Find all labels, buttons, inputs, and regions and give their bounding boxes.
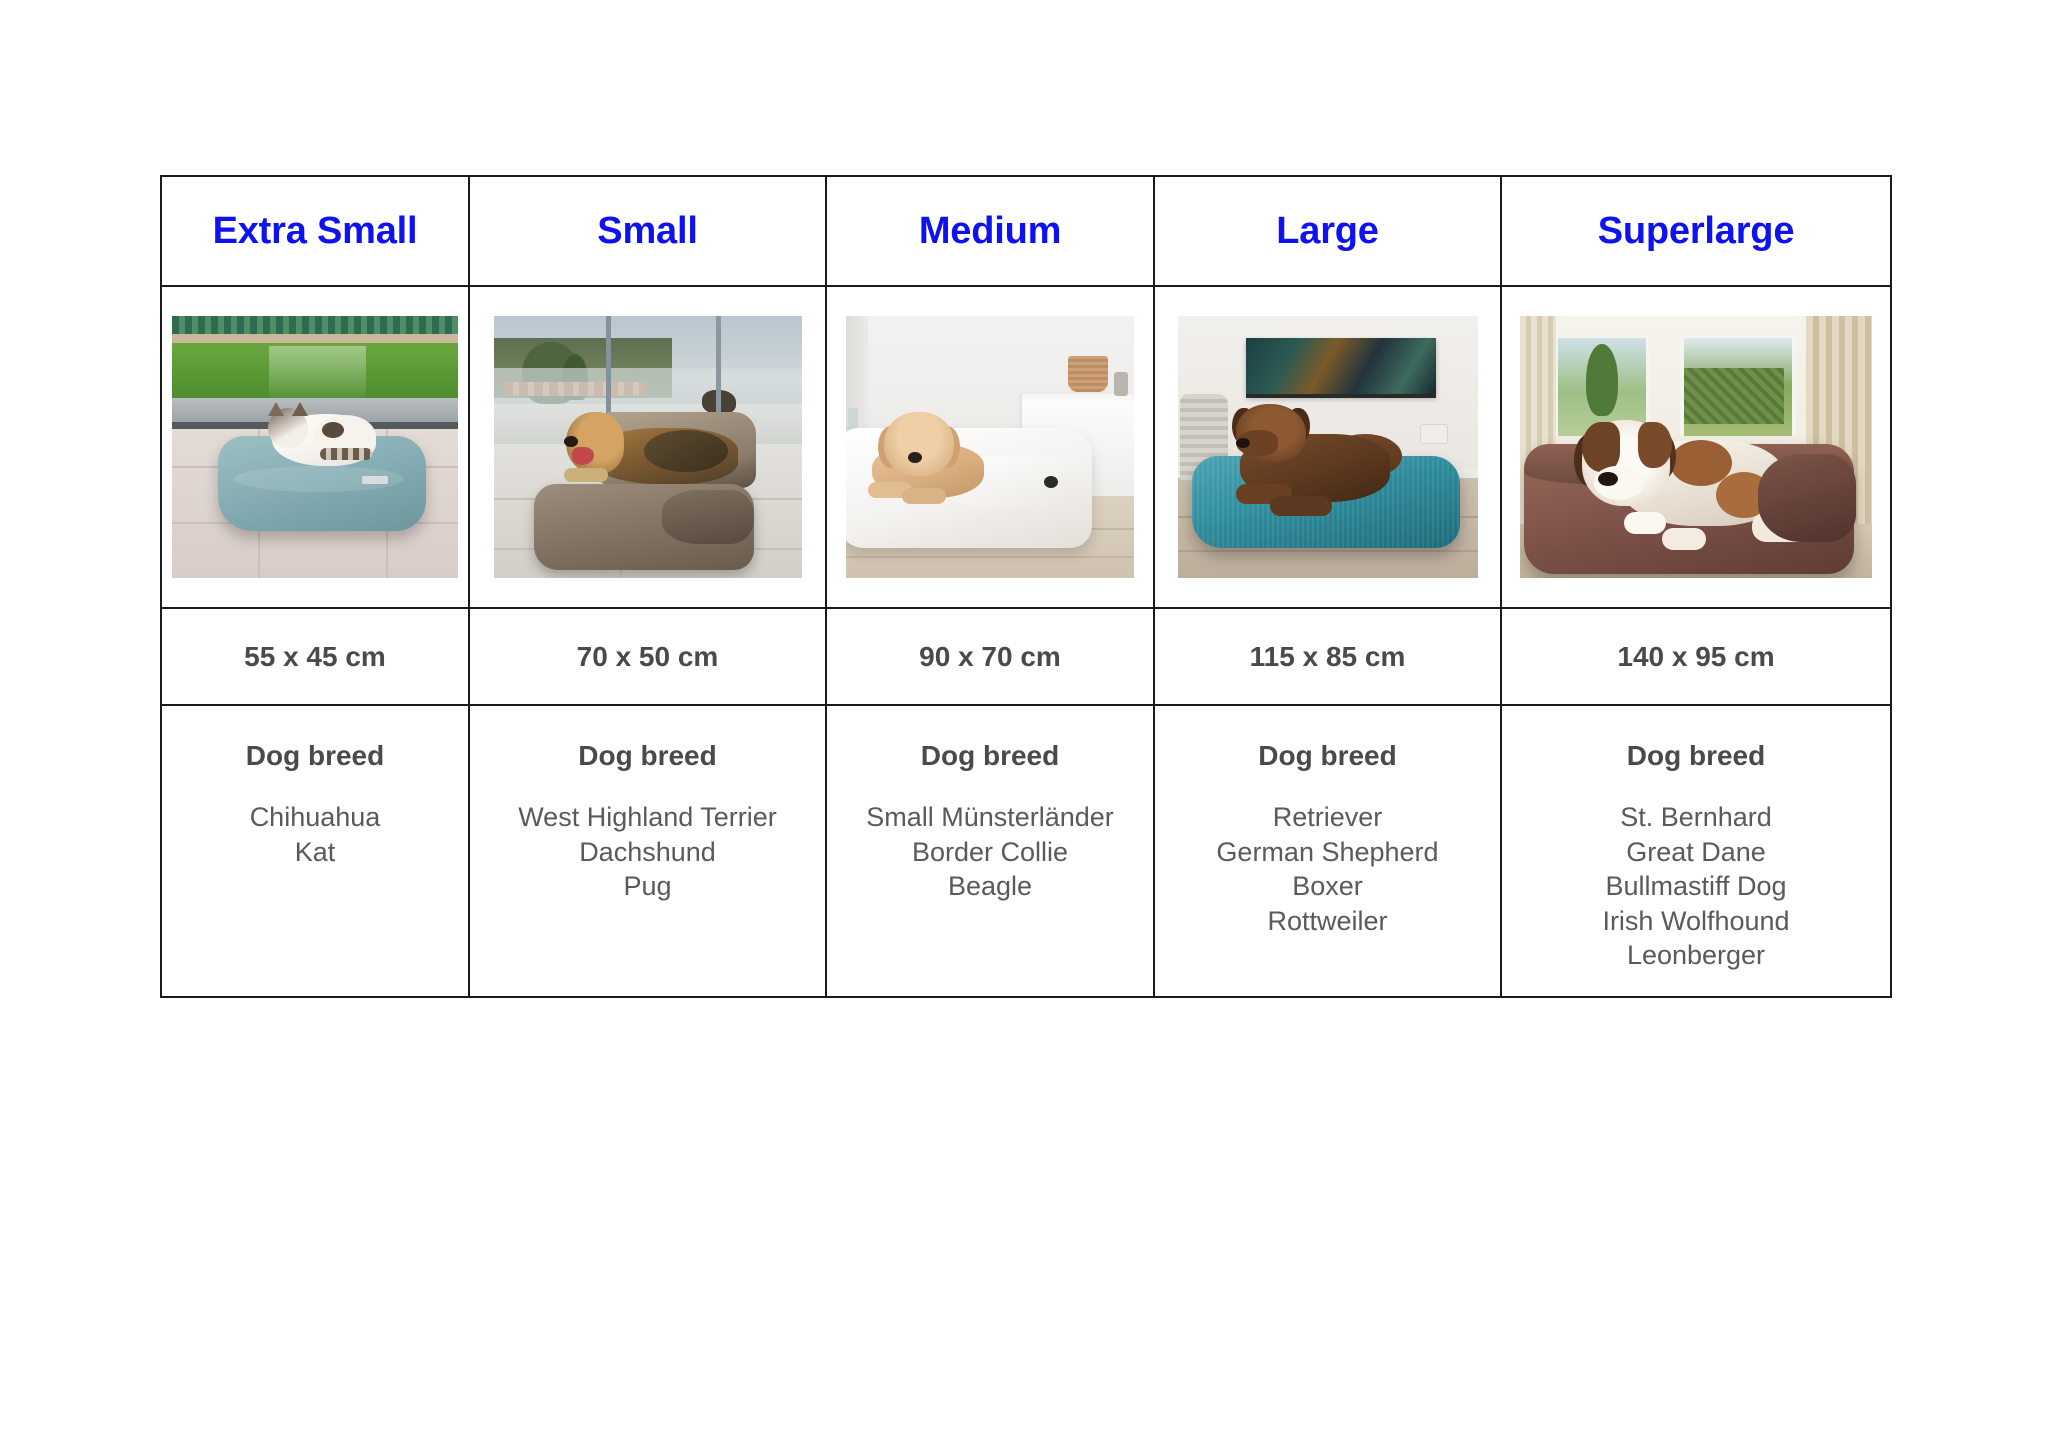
table-photo-row [161,286,1891,608]
product-photo-superlarge [1520,316,1872,578]
size-name-label: Large [1155,212,1500,250]
breeds-cell-large: Dog breed Retriever German Shepherd Boxe… [1154,705,1501,997]
photo-cell-extra-small [161,286,469,608]
dimensions-cell-large: 115 x 85 cm [1154,608,1501,705]
size-name-label: Small [470,212,825,250]
breed-item: St. Bernhard [1502,800,1890,835]
breeds-cell-superlarge: Dog breed St. Bernhard Great Dane Bullma… [1501,705,1891,997]
header-cell-extra-small: Extra Small [161,176,469,286]
dimensions-cell-superlarge: 140 x 95 cm [1501,608,1891,705]
breed-item: Pug [470,869,825,904]
breed-item: Leonberger [1502,938,1890,973]
breed-item: Kat [162,835,468,870]
breed-title: Dog breed [470,742,825,770]
breed-item: Border Collie [827,835,1153,870]
breed-title: Dog breed [1502,742,1890,770]
product-photo-small [494,316,802,578]
product-photo-extra-small [172,316,458,578]
dimensions-label: 115 x 85 cm [1155,643,1500,671]
breed-item: Chihuahua [162,800,468,835]
breeds-cell-medium: Dog breed Small Münsterländer Border Col… [826,705,1154,997]
dimensions-label: 70 x 50 cm [470,643,825,671]
dimensions-cell-small: 70 x 50 cm [469,608,826,705]
breed-item: Beagle [827,869,1153,904]
header-cell-medium: Medium [826,176,1154,286]
size-name-label: Medium [827,212,1153,250]
size-name-label: Extra Small [162,212,468,250]
breed-list: Retriever German Shepherd Boxer Rottweil… [1155,800,1500,938]
page-canvas: Extra Small Small Medium Large Superlarg… [0,0,2048,1448]
breeds-cell-extra-small: Dog breed Chihuahua Kat [161,705,469,997]
breed-item: Retriever [1155,800,1500,835]
table-dimensions-row: 55 x 45 cm 70 x 50 cm 90 x 70 cm 115 x 8… [161,608,1891,705]
breed-item: Rottweiler [1155,904,1500,939]
dog-bed-size-table: Extra Small Small Medium Large Superlarg… [160,175,1892,998]
breed-item: Great Dane [1502,835,1890,870]
header-cell-small: Small [469,176,826,286]
dimensions-label: 90 x 70 cm [827,643,1153,671]
breed-title: Dog breed [1155,742,1500,770]
breed-title: Dog breed [162,742,468,770]
breed-item: Dachshund [470,835,825,870]
dimensions-cell-medium: 90 x 70 cm [826,608,1154,705]
size-name-label: Superlarge [1502,212,1890,250]
dimensions-label: 140 x 95 cm [1502,643,1890,671]
photo-cell-large [1154,286,1501,608]
product-photo-medium [846,316,1134,578]
header-cell-large: Large [1154,176,1501,286]
breed-list: St. Bernhard Great Dane Bullmastiff Dog … [1502,800,1890,973]
table-breeds-row: Dog breed Chihuahua Kat Dog breed West H… [161,705,1891,997]
breed-list: Chihuahua Kat [162,800,468,869]
breed-list: West Highland Terrier Dachshund Pug [470,800,825,904]
photo-cell-medium [826,286,1154,608]
breeds-cell-small: Dog breed West Highland Terrier Dachshun… [469,705,826,997]
breed-title: Dog breed [827,742,1153,770]
breed-item: German Shepherd [1155,835,1500,870]
photo-cell-small [469,286,826,608]
breed-item: Irish Wolfhound [1502,904,1890,939]
dimensions-label: 55 x 45 cm [162,643,468,671]
product-photo-large [1178,316,1478,578]
table-header-row: Extra Small Small Medium Large Superlarg… [161,176,1891,286]
dimensions-cell-extra-small: 55 x 45 cm [161,608,469,705]
header-cell-superlarge: Superlarge [1501,176,1891,286]
breed-item: Bullmastiff Dog [1502,869,1890,904]
breed-list: Small Münsterländer Border Collie Beagle [827,800,1153,904]
breed-item: Small Münsterländer [827,800,1153,835]
photo-cell-superlarge [1501,286,1891,608]
breed-item: West Highland Terrier [470,800,825,835]
breed-item: Boxer [1155,869,1500,904]
